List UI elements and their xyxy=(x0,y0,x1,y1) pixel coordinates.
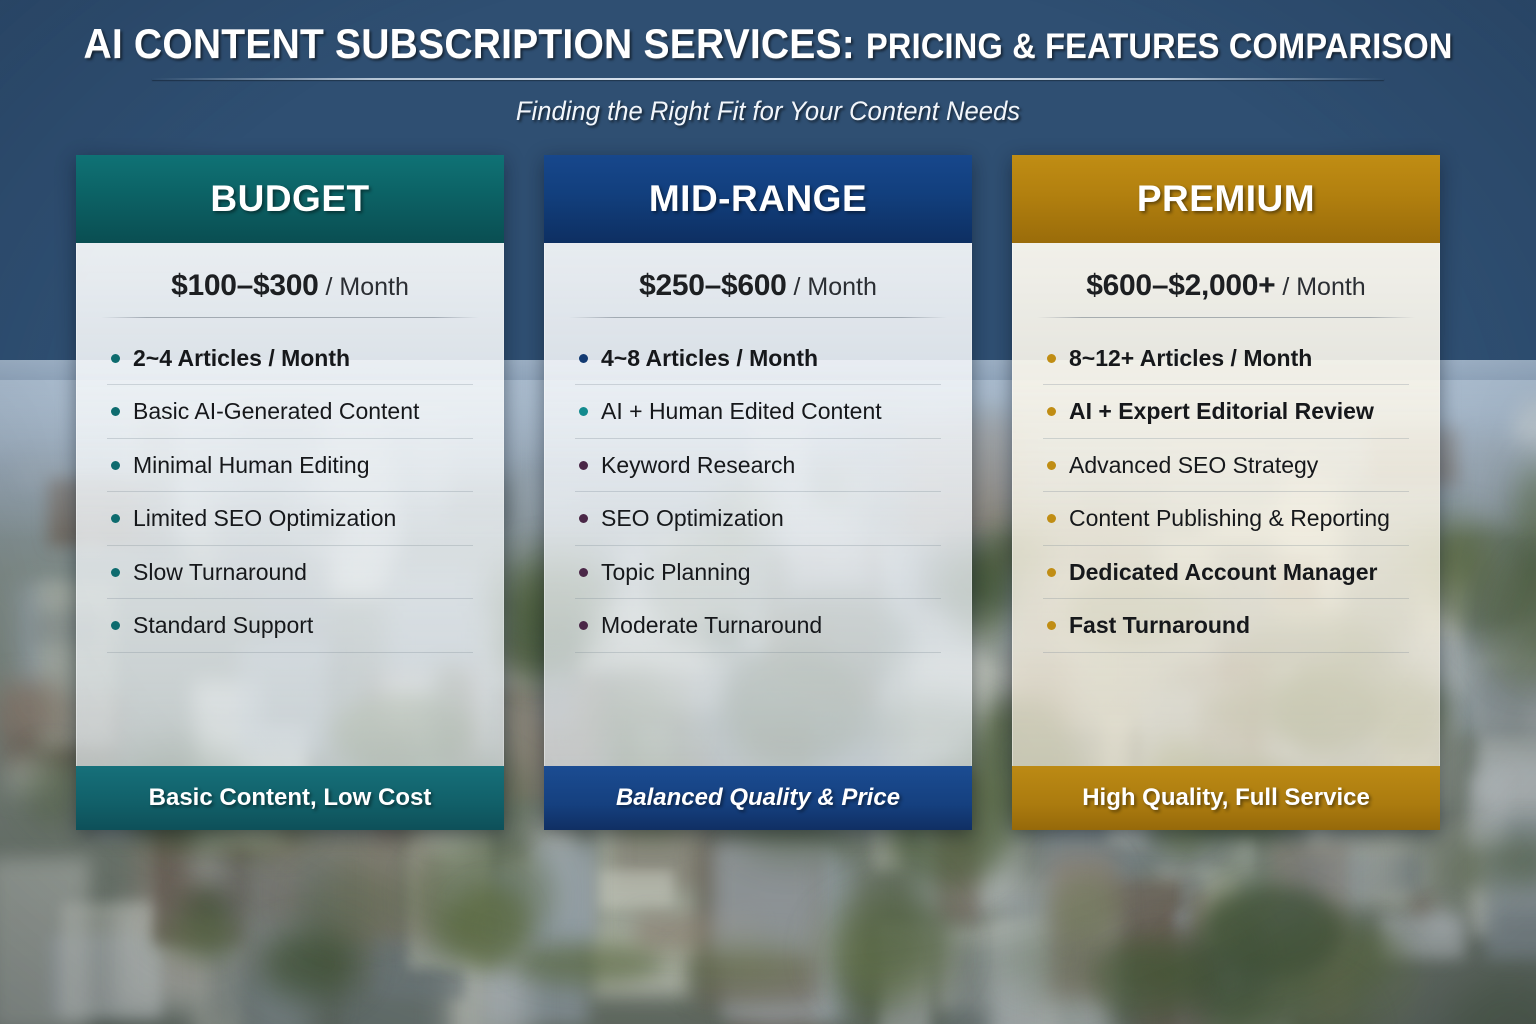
feature-item: Slow Turnaround xyxy=(107,546,473,599)
page-header: AI CONTENT SUBSCRIPTION SERVICES: PRICIN… xyxy=(0,0,1536,127)
feature-list: 4~8 Articles / MonthAI + Human Edited Co… xyxy=(569,326,947,653)
card-price: $600–$2,000+ / Month xyxy=(1037,243,1415,317)
feature-item: 8~12+ Articles / Month xyxy=(1043,332,1409,385)
feature-item: Standard Support xyxy=(107,599,473,652)
bullet-icon xyxy=(1047,621,1056,630)
bullet-icon xyxy=(579,514,588,523)
feature-label: Fast Turnaround xyxy=(1069,612,1250,638)
infographic-stage: AI CONTENT SUBSCRIPTION SERVICES: PRICIN… xyxy=(0,0,1536,1024)
bullet-icon xyxy=(579,407,588,416)
card-price: $250–$600 / Month xyxy=(569,243,947,317)
bullet-icon xyxy=(1047,354,1056,363)
feature-label: Basic AI-Generated Content xyxy=(133,398,419,424)
bullet-icon xyxy=(1047,461,1056,470)
bullet-icon xyxy=(579,461,588,470)
feature-item: Basic AI-Generated Content xyxy=(107,385,473,438)
feature-item: Moderate Turnaround xyxy=(575,599,941,652)
card-body: $600–$2,000+ / Month8~12+ Articles / Mon… xyxy=(1012,243,1440,766)
card-summary-banner: High Quality, Full Service xyxy=(1012,766,1440,830)
pricing-card-premium[interactable]: PREMIUM$600–$2,000+ / Month8~12+ Article… xyxy=(1012,155,1440,830)
price-divider xyxy=(101,317,479,318)
bullet-icon xyxy=(111,354,120,363)
pricing-cards: BUDGET$100–$300 / Month2~4 Articles / Mo… xyxy=(76,155,1440,830)
bullet-icon xyxy=(111,461,120,470)
bullet-icon xyxy=(1047,407,1056,416)
card-tier-title: BUDGET xyxy=(76,155,504,243)
feature-item: 4~8 Articles / Month xyxy=(575,332,941,385)
feature-label: Moderate Turnaround xyxy=(601,612,822,638)
feature-label: Limited SEO Optimization xyxy=(133,505,396,531)
bullet-icon xyxy=(1047,568,1056,577)
bullet-icon xyxy=(111,514,120,523)
page-title-sub: PRICING & FEATURES COMPARISON xyxy=(866,27,1452,66)
feature-item: AI + Human Edited Content xyxy=(575,385,941,438)
bullet-icon xyxy=(579,568,588,577)
feature-label: Topic Planning xyxy=(601,559,751,585)
bullet-icon xyxy=(579,621,588,630)
bullet-icon xyxy=(111,621,120,630)
feature-list: 2~4 Articles / MonthBasic AI-Generated C… xyxy=(101,326,479,653)
title-divider xyxy=(152,78,1384,80)
feature-item: Advanced SEO Strategy xyxy=(1043,439,1409,492)
feature-label: 2~4 Articles / Month xyxy=(133,345,350,371)
feature-item: Keyword Research xyxy=(575,439,941,492)
feature-label: Dedicated Account Manager xyxy=(1069,559,1377,585)
price-period: / Month xyxy=(319,273,409,301)
feature-item: Topic Planning xyxy=(575,546,941,599)
price-divider xyxy=(1037,317,1415,318)
card-body: $250–$600 / Month4~8 Articles / MonthAI … xyxy=(544,243,972,766)
feature-label: Slow Turnaround xyxy=(133,559,307,585)
feature-item: Content Publishing & Reporting xyxy=(1043,492,1409,545)
feature-list: 8~12+ Articles / MonthAI + Expert Editor… xyxy=(1037,326,1415,653)
feature-label: Content Publishing & Reporting xyxy=(1069,505,1390,531)
feature-label: Standard Support xyxy=(133,612,313,638)
feature-label: SEO Optimization xyxy=(601,505,784,531)
price-amount: $250–$600 xyxy=(639,269,786,302)
card-body: $100–$300 / Month2~4 Articles / MonthBas… xyxy=(76,243,504,766)
bullet-icon xyxy=(579,354,588,363)
card-tier-title: PREMIUM xyxy=(1012,155,1440,243)
bullet-icon xyxy=(1047,514,1056,523)
bullet-icon xyxy=(111,568,120,577)
page-title: AI CONTENT SUBSCRIPTION SERVICES: PRICIN… xyxy=(54,22,1482,66)
feature-label: AI + Expert Editorial Review xyxy=(1069,398,1374,424)
card-summary-banner: Basic Content, Low Cost xyxy=(76,766,504,830)
price-period: / Month xyxy=(1275,273,1365,301)
feature-label: AI + Human Edited Content xyxy=(601,398,882,424)
feature-label: Minimal Human Editing xyxy=(133,452,369,478)
feature-item: Dedicated Account Manager xyxy=(1043,546,1409,599)
feature-item: AI + Expert Editorial Review xyxy=(1043,385,1409,438)
price-amount: $600–$2,000+ xyxy=(1086,269,1275,302)
feature-item: 2~4 Articles / Month xyxy=(107,332,473,385)
feature-label: 8~12+ Articles / Month xyxy=(1069,345,1312,371)
feature-label: Advanced SEO Strategy xyxy=(1069,452,1318,478)
page-subtitle: Finding the Right Fit for Your Content N… xyxy=(38,96,1497,127)
feature-label: Keyword Research xyxy=(601,452,795,478)
card-tier-title: MID-RANGE xyxy=(544,155,972,243)
feature-item: Minimal Human Editing xyxy=(107,439,473,492)
price-amount: $100–$300 xyxy=(171,269,318,302)
bullet-icon xyxy=(111,407,120,416)
feature-label: 4~8 Articles / Month xyxy=(601,345,818,371)
card-price: $100–$300 / Month xyxy=(101,243,479,317)
price-divider xyxy=(569,317,947,318)
feature-item: Fast Turnaround xyxy=(1043,599,1409,652)
price-period: / Month xyxy=(787,273,877,301)
feature-item: SEO Optimization xyxy=(575,492,941,545)
card-summary-banner: Balanced Quality & Price xyxy=(544,766,972,830)
pricing-card-budget[interactable]: BUDGET$100–$300 / Month2~4 Articles / Mo… xyxy=(76,155,504,830)
pricing-card-mid-range[interactable]: MID-RANGE$250–$600 / Month4~8 Articles /… xyxy=(544,155,972,830)
page-title-main: AI CONTENT SUBSCRIPTION SERVICES: xyxy=(83,20,855,67)
feature-item: Limited SEO Optimization xyxy=(107,492,473,545)
